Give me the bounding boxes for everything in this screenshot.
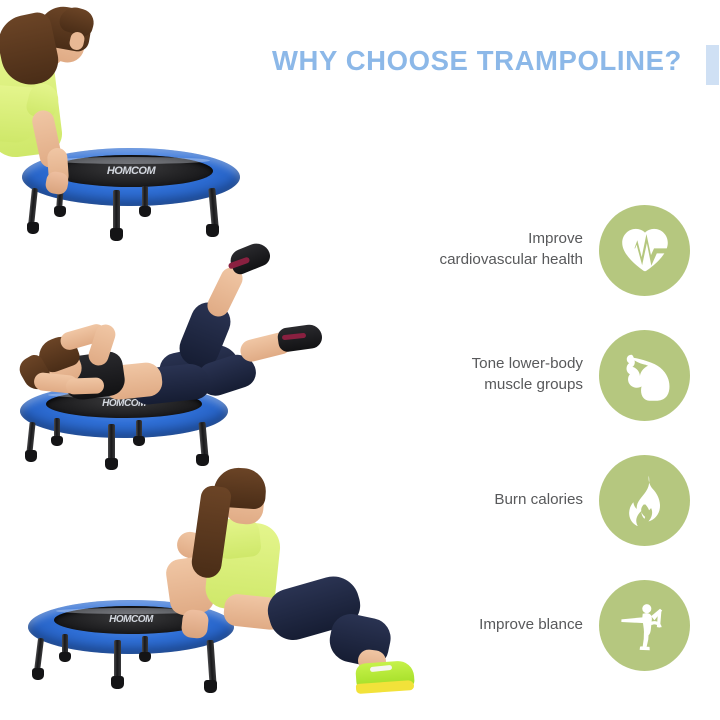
photo-woman-tricep-dips: HOMCOM: [0, 450, 420, 720]
trampoline-foot: [54, 206, 66, 217]
trampoline-leg: [113, 190, 120, 232]
benefit-icon-circle: [599, 330, 690, 421]
benefit-label: Improve cardiovascular health: [439, 229, 599, 270]
trampoline-foot: [51, 436, 63, 446]
trampoline-foot: [204, 680, 217, 693]
benefit-icon-circle: [599, 580, 690, 671]
benefit-icon-circle: [599, 455, 690, 546]
photo-woman-crunches: HOMCOM: [0, 230, 360, 470]
photo-woman-leaning-pushup: HOMCOM: [0, 0, 360, 240]
benefit-item-burn-calories[interactable]: Burn calories: [400, 452, 690, 548]
trampoline-foot: [111, 676, 124, 689]
benefit-label: Burn calories: [494, 490, 599, 511]
benefit-icon-circle: [599, 205, 690, 296]
trampoline-leg: [114, 640, 121, 680]
benefit-item-improve-balance[interactable]: Improve blance: [400, 577, 690, 673]
trampoline-foot: [59, 652, 71, 662]
benefit-label: Tone lower-body muscle groups: [472, 354, 599, 395]
yoga-balance-icon: [616, 596, 674, 654]
benefit-item-cardiovascular[interactable]: Improve cardiovascular health: [400, 202, 690, 298]
benefits-list: Improve cardiovascular health Tone lower…: [400, 0, 720, 720]
flame-icon: [619, 474, 671, 526]
trampoline-foot: [133, 436, 145, 446]
muscle-arm-icon: [618, 348, 672, 402]
trampoline-logo: HOMCOM: [20, 398, 228, 409]
heart-pulse-icon: [618, 223, 672, 277]
trampoline-foot: [139, 652, 151, 662]
photo-collage: HOMCOM: [0, 0, 420, 720]
trampoline-foot: [32, 668, 44, 680]
trampoline-springs: [52, 157, 210, 164]
benefit-label: Improve blance: [479, 615, 599, 636]
infographic-root: WHY CHOOSE TRAMPOLINE? HOMCOM: [0, 0, 720, 720]
benefit-item-muscle-groups[interactable]: Tone lower-body muscle groups: [400, 327, 690, 423]
trampoline-foot: [139, 206, 151, 217]
